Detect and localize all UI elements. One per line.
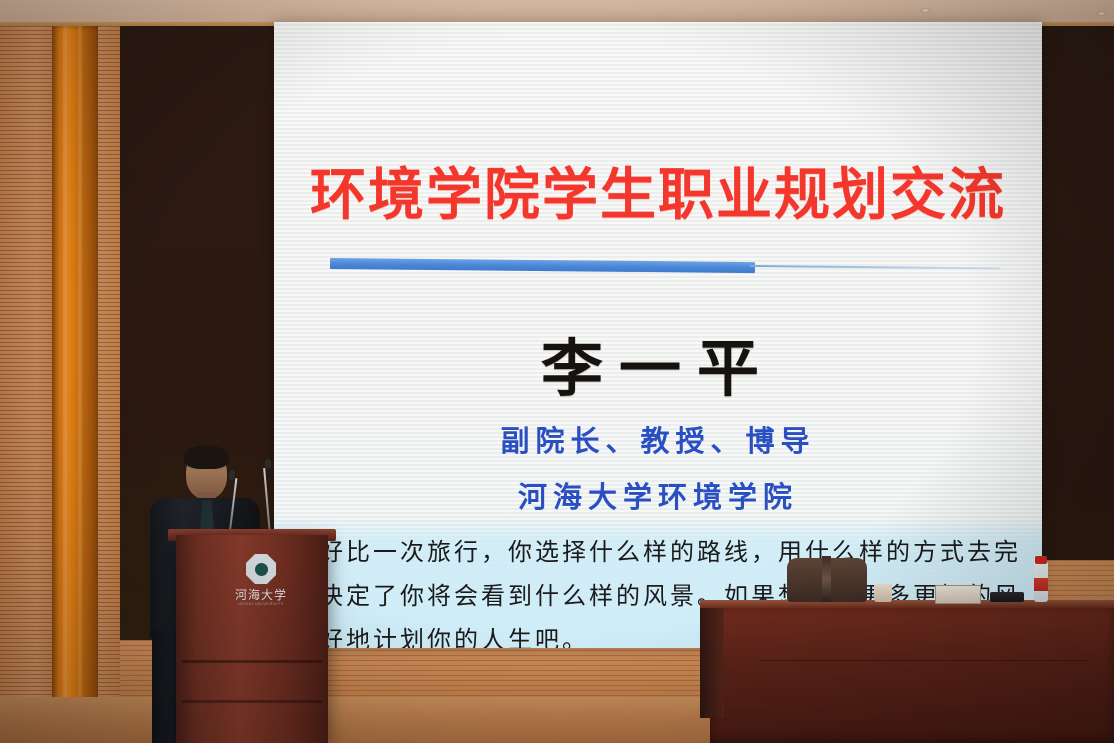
table-item-bag-strap — [822, 556, 831, 602]
presiding-table — [710, 608, 1114, 743]
table-item-paper — [935, 585, 981, 604]
orange-curtain — [52, 26, 98, 716]
podium-emblem-sublabel: HOHAI UNIVERSITY — [222, 601, 300, 606]
slide-speaker-name: 李一平 — [274, 318, 1042, 408]
table-seam — [760, 660, 1090, 661]
microphone-head-icon — [265, 459, 272, 469]
ceiling-downlight-icon — [1096, 11, 1107, 16]
table-item-bottle-cap — [1035, 556, 1047, 564]
table-item-cup — [874, 584, 892, 602]
speaker-hair — [184, 445, 229, 469]
table-item-bottle-label — [1034, 578, 1048, 591]
slide-divider-thin — [750, 265, 1000, 269]
table-item-device — [990, 592, 1024, 602]
slide-subtitle-role: 副院长、教授、博导 — [274, 418, 1042, 460]
slide-divider-thick — [330, 258, 755, 273]
podium-seam — [182, 660, 322, 663]
table-left-post — [700, 608, 724, 718]
podium-seam — [182, 700, 322, 703]
projection-screen: 环境学院学生职业规划交流 李一平 副院长、教授、博导 河海大学环境学院 生好比一… — [274, 22, 1042, 648]
slide-title: 环境学院学生职业规划交流 — [274, 150, 1042, 231]
curtain-fold — [63, 26, 67, 716]
slide-subtitle-affiliation: 河海大学环境学院 — [274, 474, 1042, 516]
ceiling-downlight-icon — [920, 8, 931, 13]
hohai-university-emblem-icon — [246, 554, 276, 584]
lecture-hall-scene: 环境学院学生职业规划交流 李一平 副院长、教授、博导 河海大学环境学院 生好比一… — [0, 0, 1114, 743]
curtain-fold — [78, 26, 82, 716]
